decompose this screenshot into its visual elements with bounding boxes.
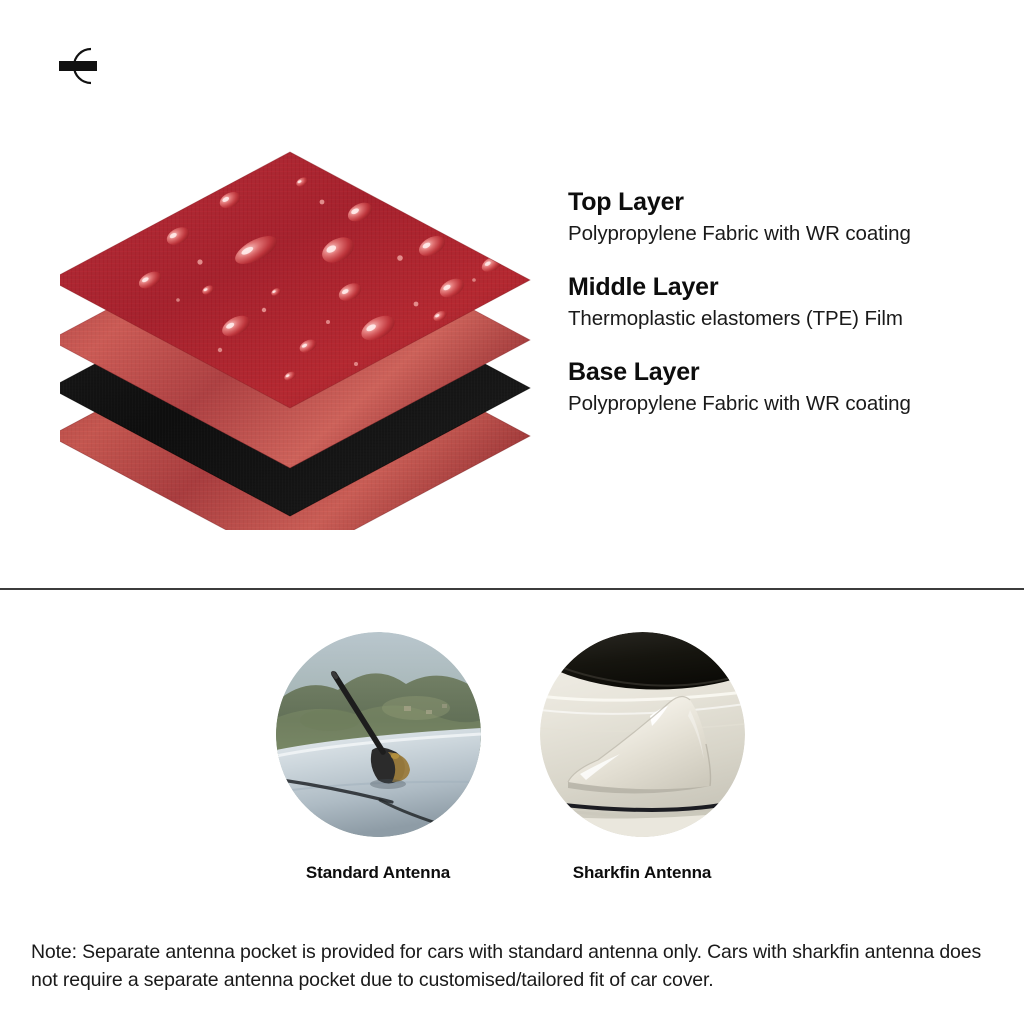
top-layer-subtitle: Polypropylene Fabric with WR coating [568, 221, 998, 248]
base-layer-subtitle: Polypropylene Fabric with WR coating [568, 391, 998, 418]
layer-legend: Top Layer Polypropylene Fabric with WR c… [568, 188, 998, 417]
standard-antenna-photo [276, 632, 481, 837]
antenna-note-text: Note: Separate antenna pocket is provide… [31, 938, 999, 995]
top-layer-title: Top Layer [568, 188, 998, 218]
antenna-item-standard: Standard Antenna [268, 632, 488, 883]
legend-block-base: Base Layer Polypropylene Fabric with WR … [568, 358, 998, 417]
standard-antenna-caption: Standard Antenna [268, 863, 488, 883]
fabric-layer-stack-diagram [60, 140, 560, 530]
base-layer-title: Base Layer [568, 358, 998, 388]
legend-block-middle: Middle Layer Thermoplastic elastomers (T… [568, 273, 998, 332]
circle-bar-logo [55, 44, 107, 88]
sharkfin-antenna-caption: Sharkfin Antenna [532, 863, 752, 883]
middle-layer-subtitle: Thermoplastic elastomers (TPE) Film [568, 306, 998, 333]
legend-block-top: Top Layer Polypropylene Fabric with WR c… [568, 188, 998, 247]
section-divider [0, 588, 1024, 590]
logo-bar-icon [59, 61, 97, 71]
antenna-item-sharkfin: Sharkfin Antenna [532, 632, 752, 883]
middle-layer-title: Middle Layer [568, 273, 998, 303]
sharkfin-antenna-photo [540, 632, 745, 837]
